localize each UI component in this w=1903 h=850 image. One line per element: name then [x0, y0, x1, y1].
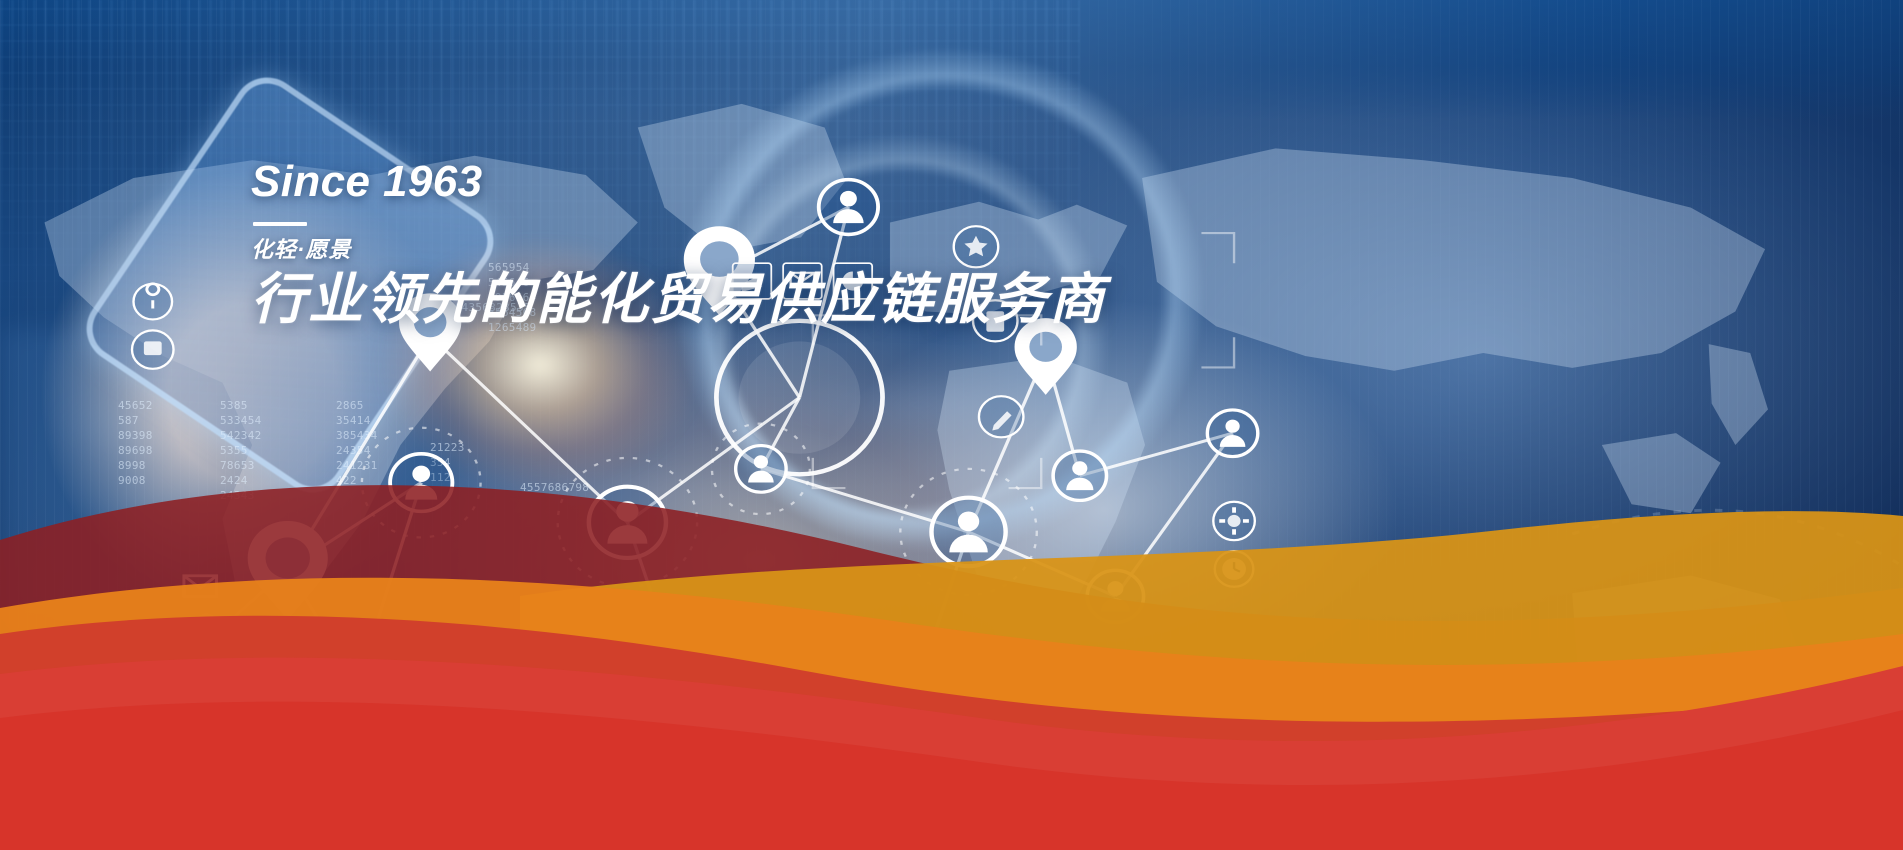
eyebrow-since-label: Since 1963	[251, 160, 1151, 204]
red-orange-ribbon-waves	[0, 420, 1903, 850]
text-divider-rule	[253, 222, 307, 226]
hero-banner: 565954 545646 5956564 6564568 1265489 45…	[0, 0, 1903, 850]
hero-text-block: Since 1963 化轻·愿景 行业领先的能化贸易供应链服务商	[251, 160, 1151, 329]
subtitle-label: 化轻·愿景	[251, 239, 1151, 261]
page-title: 行业领先的能化贸易供应链服务商	[251, 270, 1151, 329]
